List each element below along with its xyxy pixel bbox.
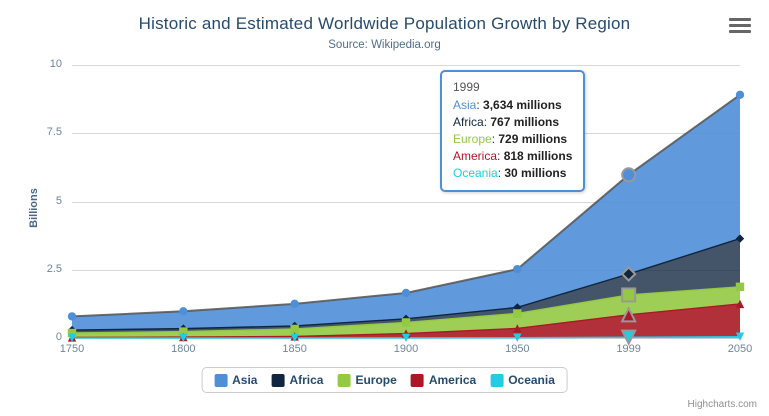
credits-label: Highcharts.com xyxy=(688,399,757,410)
legend-item-africa[interactable]: Africa xyxy=(271,373,323,387)
legend-item-oceania[interactable]: Oceania xyxy=(490,373,555,387)
menu-bar-2 xyxy=(729,24,751,27)
tooltip-header: 1999 xyxy=(453,79,572,96)
x-axis-tick-label: 1750 xyxy=(42,343,102,355)
legend-swatch-icon xyxy=(411,374,424,387)
legend-label: Europe xyxy=(355,373,396,387)
y-axis-tick-label: 0 xyxy=(0,331,62,343)
tooltip-row: America: 818 millions xyxy=(453,148,572,165)
tooltip-series-name: Oceania xyxy=(453,166,498,180)
tooltip-series-name: Africa xyxy=(453,115,484,129)
series-layer xyxy=(72,65,740,338)
legend-items: AsiaAfricaEuropeAmericaOceania xyxy=(214,373,555,387)
tooltip-series-name: Asia xyxy=(453,98,476,112)
menu-bar-1 xyxy=(729,18,751,21)
highcharts-container: Historic and Estimated Worldwide Populat… xyxy=(0,0,769,416)
tooltip-row: Africa: 767 millions xyxy=(453,114,572,131)
legend-item-america[interactable]: America xyxy=(411,373,476,387)
x-axis-tick-label: 1800 xyxy=(153,343,213,355)
legend-swatch-icon xyxy=(337,374,350,387)
tooltip-row: Asia: 3,634 millions xyxy=(453,97,572,114)
tooltip-separator: : xyxy=(497,149,504,163)
legend-item-asia[interactable]: Asia xyxy=(214,373,257,387)
tooltip: 1999 Asia: 3,634 millionsAfrica: 767 mil… xyxy=(440,70,585,192)
legend-item-europe[interactable]: Europe xyxy=(337,373,396,387)
y-axis-tick-label: 10 xyxy=(0,58,62,70)
y-axis-tick-label: 7.5 xyxy=(0,126,62,138)
tooltip-series-name: Europe xyxy=(453,132,492,146)
legend-label: Asia xyxy=(232,373,257,387)
y-axis-tick-label: 5 xyxy=(0,195,62,207)
legend-label: Africa xyxy=(289,373,323,387)
tooltip-rows: Asia: 3,634 millionsAfrica: 767 millions… xyxy=(453,97,572,182)
legend[interactable]: AsiaAfricaEuropeAmericaOceania xyxy=(201,367,568,393)
tooltip-separator: : xyxy=(476,98,483,112)
tooltip-series-value: 3,634 millions xyxy=(483,98,562,112)
legend-swatch-icon xyxy=(490,374,503,387)
hamburger-menu-icon[interactable] xyxy=(729,18,751,36)
legend-label: America xyxy=(429,373,476,387)
menu-bar-3 xyxy=(729,30,751,33)
tooltip-series-value: 818 millions xyxy=(504,149,573,163)
tooltip-series-name: America xyxy=(453,149,497,163)
legend-label: Oceania xyxy=(508,373,555,387)
tooltip-series-value: 30 millions xyxy=(504,166,566,180)
legend-swatch-icon xyxy=(214,374,227,387)
y-axis-tick-label: 2.5 xyxy=(0,263,62,275)
legend-swatch-icon xyxy=(271,374,284,387)
chart-subtitle: Source: Wikipedia.org xyxy=(0,39,769,51)
x-axis-tick-label: 1999 xyxy=(599,343,659,355)
x-axis-tick-label: 2050 xyxy=(710,343,769,355)
x-axis-tick-label: 1850 xyxy=(265,343,325,355)
page-title: Historic and Estimated Worldwide Populat… xyxy=(0,14,769,34)
tooltip-series-value: 729 millions xyxy=(498,132,567,146)
plot-area xyxy=(72,65,740,338)
x-axis-tick-label: 1950 xyxy=(487,343,547,355)
x-axis-tick-label: 1900 xyxy=(376,343,436,355)
tooltip-row: Europe: 729 millions xyxy=(453,131,572,148)
tooltip-row: Oceania: 30 millions xyxy=(453,165,572,182)
tooltip-series-value: 767 millions xyxy=(490,115,559,129)
